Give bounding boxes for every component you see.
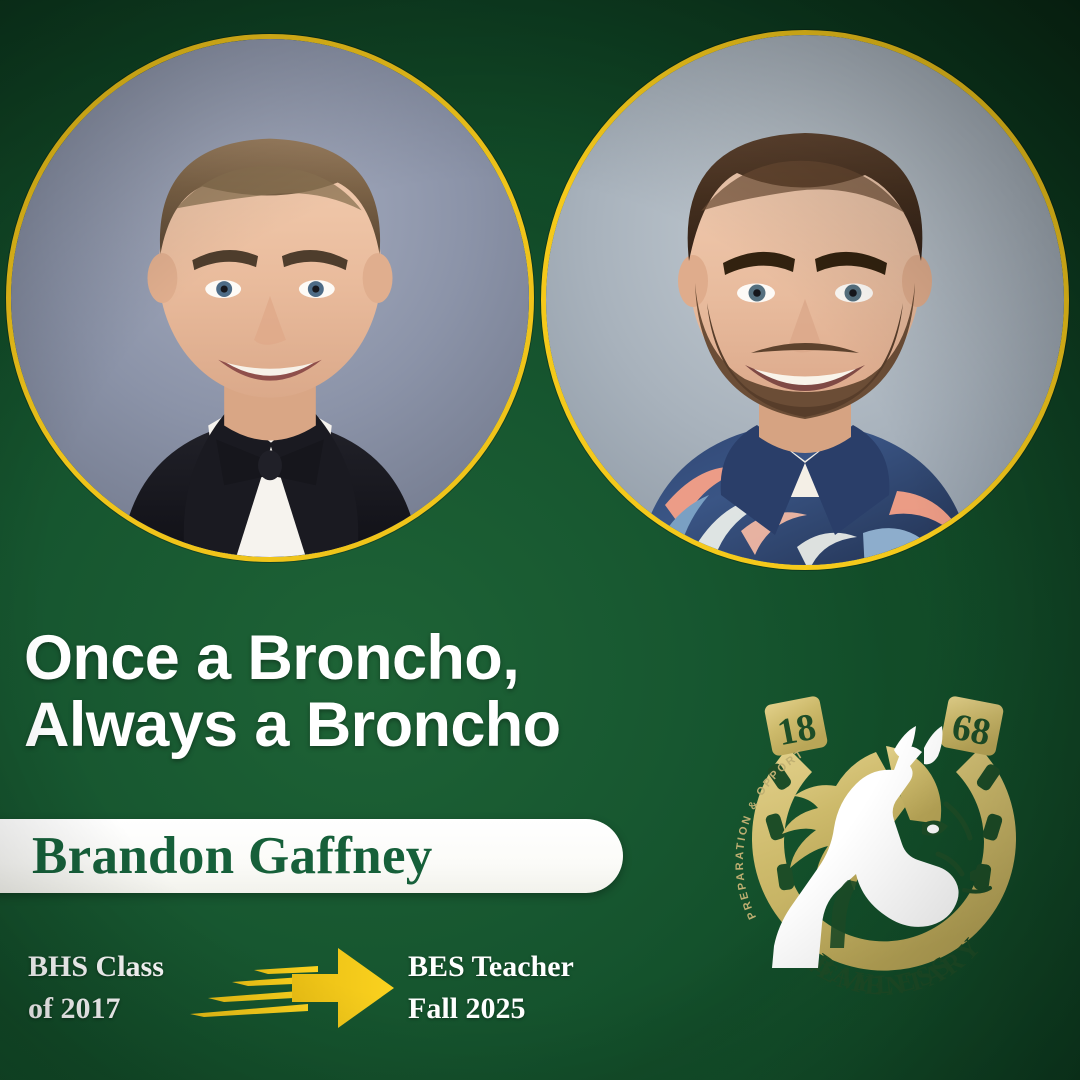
transition-to-line-1: BES Teacher	[408, 946, 574, 988]
transition-from-line-2: of 2017	[28, 988, 188, 1030]
career-transition-row: BHS Class of 2017 BES T	[28, 940, 648, 1036]
transition-from-line-1: BHS Class	[28, 946, 188, 988]
founding-year-right-tab: 68	[940, 695, 1005, 757]
current-teacher-photo	[541, 30, 1069, 570]
year-left-text: 18	[774, 706, 819, 754]
year-right-text: 68	[949, 706, 994, 754]
right-arrow-motion-icon	[188, 940, 396, 1036]
alumni-student-photo	[6, 34, 534, 562]
transition-from-label: BHS Class of 2017	[28, 946, 188, 1030]
transition-to-label: BES Teacher Fall 2025	[408, 946, 574, 1030]
page-title: Once a Broncho, Always a Broncho	[24, 625, 724, 759]
headline-line-1: Once a Broncho,	[24, 625, 724, 692]
person-name: Brandon Gaffney	[32, 830, 433, 883]
name-banner: Brandon Gaffney	[0, 819, 623, 893]
founding-year-left-tab: 18	[764, 695, 829, 757]
bayless-elementary-logo: 18 68 PREPARATION & OPPORTUNITY BAYLESS …	[708, 686, 1060, 1038]
poster-canvas: Once a Broncho, Always a Broncho Brandon…	[0, 0, 1080, 1080]
headline-line-2: Always a Broncho	[24, 692, 724, 759]
transition-to-line-2: Fall 2025	[408, 988, 574, 1030]
